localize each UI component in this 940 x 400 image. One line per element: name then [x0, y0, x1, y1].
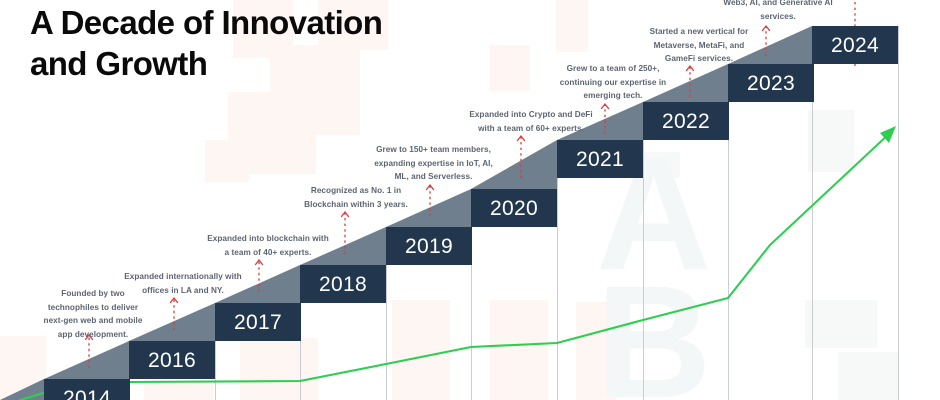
year-label: 2016 — [148, 350, 196, 371]
year-label: 2020 — [490, 198, 538, 219]
year-label: 2019 — [405, 236, 453, 257]
annotation-2018: Expanded into blockchain with a team of … — [198, 232, 338, 259]
year-block-2018[interactable]: 2018 — [300, 265, 386, 303]
annotation-2023: Started a new vertical for Metaverse, Me… — [630, 25, 768, 66]
page-title: A Decade of Innovation and Growth — [30, 2, 460, 84]
year-label: 2017 — [234, 312, 282, 333]
year-block-2024[interactable]: 2024 — [812, 26, 898, 64]
year-label: 2024 — [831, 35, 879, 56]
year-label: 2018 — [319, 274, 367, 295]
year-label: 2021 — [576, 149, 624, 170]
year-block-2019[interactable]: 2019 — [386, 227, 472, 265]
year-block-2016[interactable]: 2016 — [129, 341, 215, 379]
year-label: 2014 — [63, 388, 111, 400]
year-block-2014[interactable]: 2014 — [44, 379, 130, 400]
annotation-2022: Grew to a team of 250+, continuing our e… — [544, 62, 682, 103]
annotation-2020: Grew to 150+ team members, expanding exp… — [362, 143, 505, 184]
year-block-2022[interactable]: 2022 — [643, 102, 729, 140]
annotation-2021: Expanded into Crypto and DeFi with a tea… — [457, 108, 605, 135]
year-block-2017[interactable]: 2017 — [215, 303, 301, 341]
annotation-2024: Web3, AI, and Generative AI services. — [708, 0, 848, 23]
annotation-2019: Recognized as No. 1 in Blockchain within… — [291, 184, 421, 211]
year-label: 2022 — [662, 111, 710, 132]
year-block-2020[interactable]: 2020 — [471, 189, 557, 227]
annotation-2016: Expanded internationally with offices in… — [113, 270, 253, 297]
year-label: 2023 — [747, 73, 795, 94]
year-block-2023[interactable]: 2023 — [728, 64, 814, 102]
year-block-2021[interactable]: 2021 — [557, 140, 643, 178]
timeline-infographic: A B — [0, 0, 940, 400]
